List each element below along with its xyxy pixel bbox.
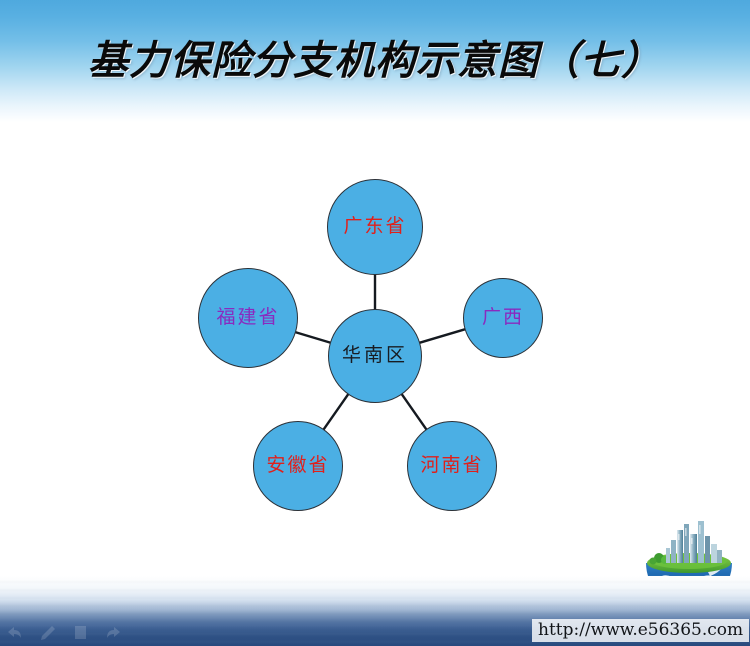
diagram-node-branch[interactable]: 福建省	[198, 268, 298, 368]
faint-toolbar-icons	[6, 625, 122, 640]
diagram-edge	[323, 393, 350, 431]
diagram-node-branch[interactable]: 广东省	[327, 179, 423, 275]
forward-arrow-icon	[105, 625, 122, 640]
diagram-edge	[418, 329, 466, 343]
diagram-node-label: 河南省	[420, 456, 483, 475]
diagram-edge	[294, 332, 332, 343]
back-arrow-icon	[6, 625, 23, 640]
diagram-node-center[interactable]: 华南区	[328, 309, 422, 403]
pen-icon	[39, 625, 56, 640]
diagram-node-label: 福建省	[216, 308, 279, 327]
diagram-node-label: 广西	[482, 308, 524, 327]
diagram-node-label: 广东省	[343, 217, 406, 236]
diagram-edge	[401, 393, 428, 431]
diagram-node-branch[interactable]: 河南省	[407, 421, 497, 511]
presentation-slide: 基力保险分支机构示意图（七） 广东省广西河南省安徽省福建省华南区	[0, 0, 750, 646]
page-icon	[72, 625, 89, 640]
diagram-node-label: 华南区	[342, 346, 408, 365]
diagram-node-label: 安徽省	[266, 456, 329, 475]
diagram-node-branch[interactable]: 广西	[463, 278, 543, 358]
site-watermark: http://www.e56365.com	[532, 619, 749, 642]
diagram-node-branch[interactable]: 安徽省	[253, 421, 343, 511]
